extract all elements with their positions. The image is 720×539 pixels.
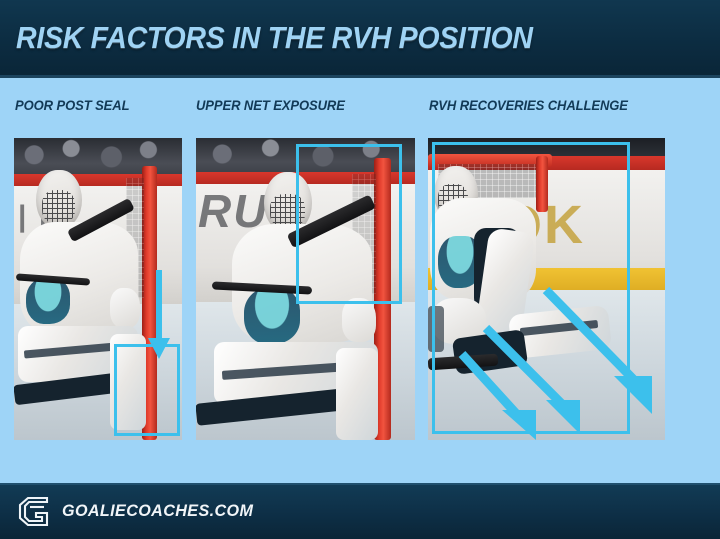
panel-label-poor-post-seal: POOR POST SEAL bbox=[15, 96, 129, 114]
goalie-post-side-pad bbox=[336, 348, 378, 440]
brand-name: GOALIECOACHES.COM bbox=[62, 501, 253, 521]
panel-label-rvh-recoveries-challenge: RVH RECOVERIES CHALLENGE bbox=[429, 96, 628, 114]
photo-panel-upper-net-exposure: RU bbox=[196, 138, 415, 440]
photo-panel-poor-post-seal: | | bbox=[14, 138, 182, 440]
kraken-logo bbox=[26, 278, 70, 324]
photo-scene-2: RU bbox=[196, 138, 415, 440]
photo-panel-rvh-recoveries-challenge: OK bbox=[428, 138, 665, 440]
header-bar: RISK FACTORS IN THE RVH POSITION bbox=[0, 0, 720, 78]
goalie-glove bbox=[342, 298, 376, 342]
net-shadow bbox=[428, 306, 444, 352]
goal-post bbox=[536, 156, 548, 212]
footer-bar: GOALIECOACHES.COM bbox=[0, 483, 720, 539]
panel-label-upper-net-exposure: UPPER NET EXPOSURE bbox=[196, 96, 345, 114]
page-title: RISK FACTORS IN THE RVH POSITION bbox=[16, 20, 533, 56]
goalie-cage bbox=[270, 194, 305, 228]
goalie-post-side-pad bbox=[110, 334, 146, 430]
goalie-cage bbox=[42, 190, 75, 224]
kraken-logo bbox=[244, 288, 300, 344]
g-monogram-logo-icon bbox=[18, 496, 50, 526]
goalie-glove bbox=[110, 288, 140, 328]
photo-scene-3: OK bbox=[428, 138, 665, 440]
photo-scene-1: | | bbox=[14, 138, 182, 440]
